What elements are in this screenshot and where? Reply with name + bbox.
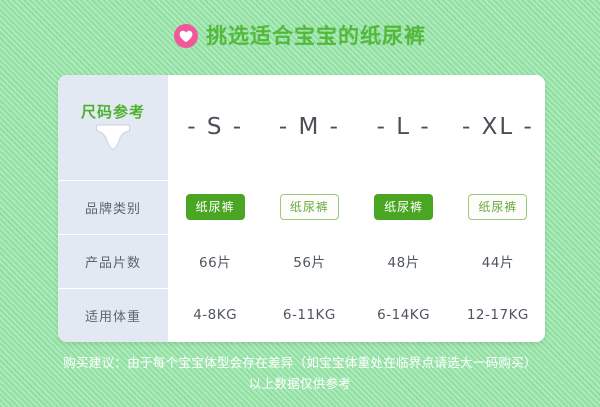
size-label-m: - M - — [279, 116, 340, 139]
count-row: 66片 56片 48片 44片 — [168, 234, 545, 288]
row-label-weight: 适用体重 — [58, 289, 168, 342]
category-cell-m: 纸尿裤 — [262, 194, 356, 220]
category-badge-l[interactable]: 纸尿裤 — [374, 194, 433, 220]
label-column: 尺码参考 品牌类别 产品片数 适用体重 — [58, 75, 168, 342]
count-value-s: 66片 — [199, 251, 231, 271]
purchase-advice: 购买建议：由于每个宝宝体型会存在差异（如宝宝体重处在临界点请选大一码购买） 以上… — [0, 352, 600, 394]
row-label-category: 品牌类别 — [58, 181, 168, 235]
size-label-s: - S - — [187, 116, 243, 139]
weight-cell-m: 6-11KG — [262, 307, 356, 323]
size-cell-s: - S - — [168, 116, 262, 139]
size-header-row: - S - - M - - L - - XL - — [168, 75, 545, 180]
weight-value-l: 6-14KG — [377, 307, 430, 323]
count-cell-s: 66片 — [168, 251, 262, 271]
row-label-count: 产品片数 — [58, 235, 168, 289]
weight-cell-s: 4-8KG — [168, 307, 262, 323]
weight-cell-l: 6-14KG — [357, 307, 451, 323]
count-cell-m: 56片 — [262, 251, 356, 271]
diaper-icon — [94, 124, 132, 151]
count-value-m: 56片 — [293, 251, 325, 271]
size-label-l: - L - — [377, 116, 431, 139]
category-badge-s[interactable]: 纸尿裤 — [186, 194, 245, 220]
weight-value-xl: 12-17KG — [467, 307, 529, 323]
category-cell-s: 纸尿裤 — [168, 194, 262, 220]
size-cell-xl: - XL - — [451, 116, 545, 139]
category-badge-xl[interactable]: 纸尿裤 — [468, 194, 527, 220]
count-cell-l: 48片 — [357, 251, 451, 271]
weight-row: 4-8KG 6-11KG 6-14KG 12-17KG — [168, 288, 545, 342]
size-reference-title: 尺码参考 — [81, 105, 145, 120]
category-cell-l: 纸尿裤 — [357, 194, 451, 220]
weight-cell-xl: 12-17KG — [451, 307, 545, 323]
category-cell-xl: 纸尿裤 — [451, 194, 545, 220]
page-title: 挑选适合宝宝的纸尿裤 — [206, 26, 426, 47]
heart-icon — [174, 24, 198, 48]
page-title-bar: 挑选适合宝宝的纸尿裤 — [0, 16, 600, 56]
purchase-advice-line-2: 以上数据仅供参考 — [0, 373, 600, 394]
size-cell-l: - L - — [357, 116, 451, 139]
count-value-xl: 44片 — [482, 251, 514, 271]
data-columns: - S - - M - - L - - XL - 纸尿裤 纸尿裤 纸尿裤 — [168, 75, 545, 342]
size-cell-m: - M - — [262, 116, 356, 139]
category-row: 纸尿裤 纸尿裤 纸尿裤 纸尿裤 — [168, 180, 545, 234]
size-reference-header-cell: 尺码参考 — [58, 75, 168, 181]
weight-value-s: 4-8KG — [193, 307, 237, 323]
count-value-l: 48片 — [388, 251, 420, 271]
count-cell-xl: 44片 — [451, 251, 545, 271]
purchase-advice-line-1: 购买建议：由于每个宝宝体型会存在差异（如宝宝体重处在临界点请选大一码购买） — [0, 352, 600, 373]
category-badge-m[interactable]: 纸尿裤 — [280, 194, 339, 220]
size-reference-card: 尺码参考 品牌类别 产品片数 适用体重 - S - - M - - L - — [58, 75, 545, 342]
size-label-xl: - XL - — [462, 116, 534, 139]
weight-value-m: 6-11KG — [283, 307, 336, 323]
